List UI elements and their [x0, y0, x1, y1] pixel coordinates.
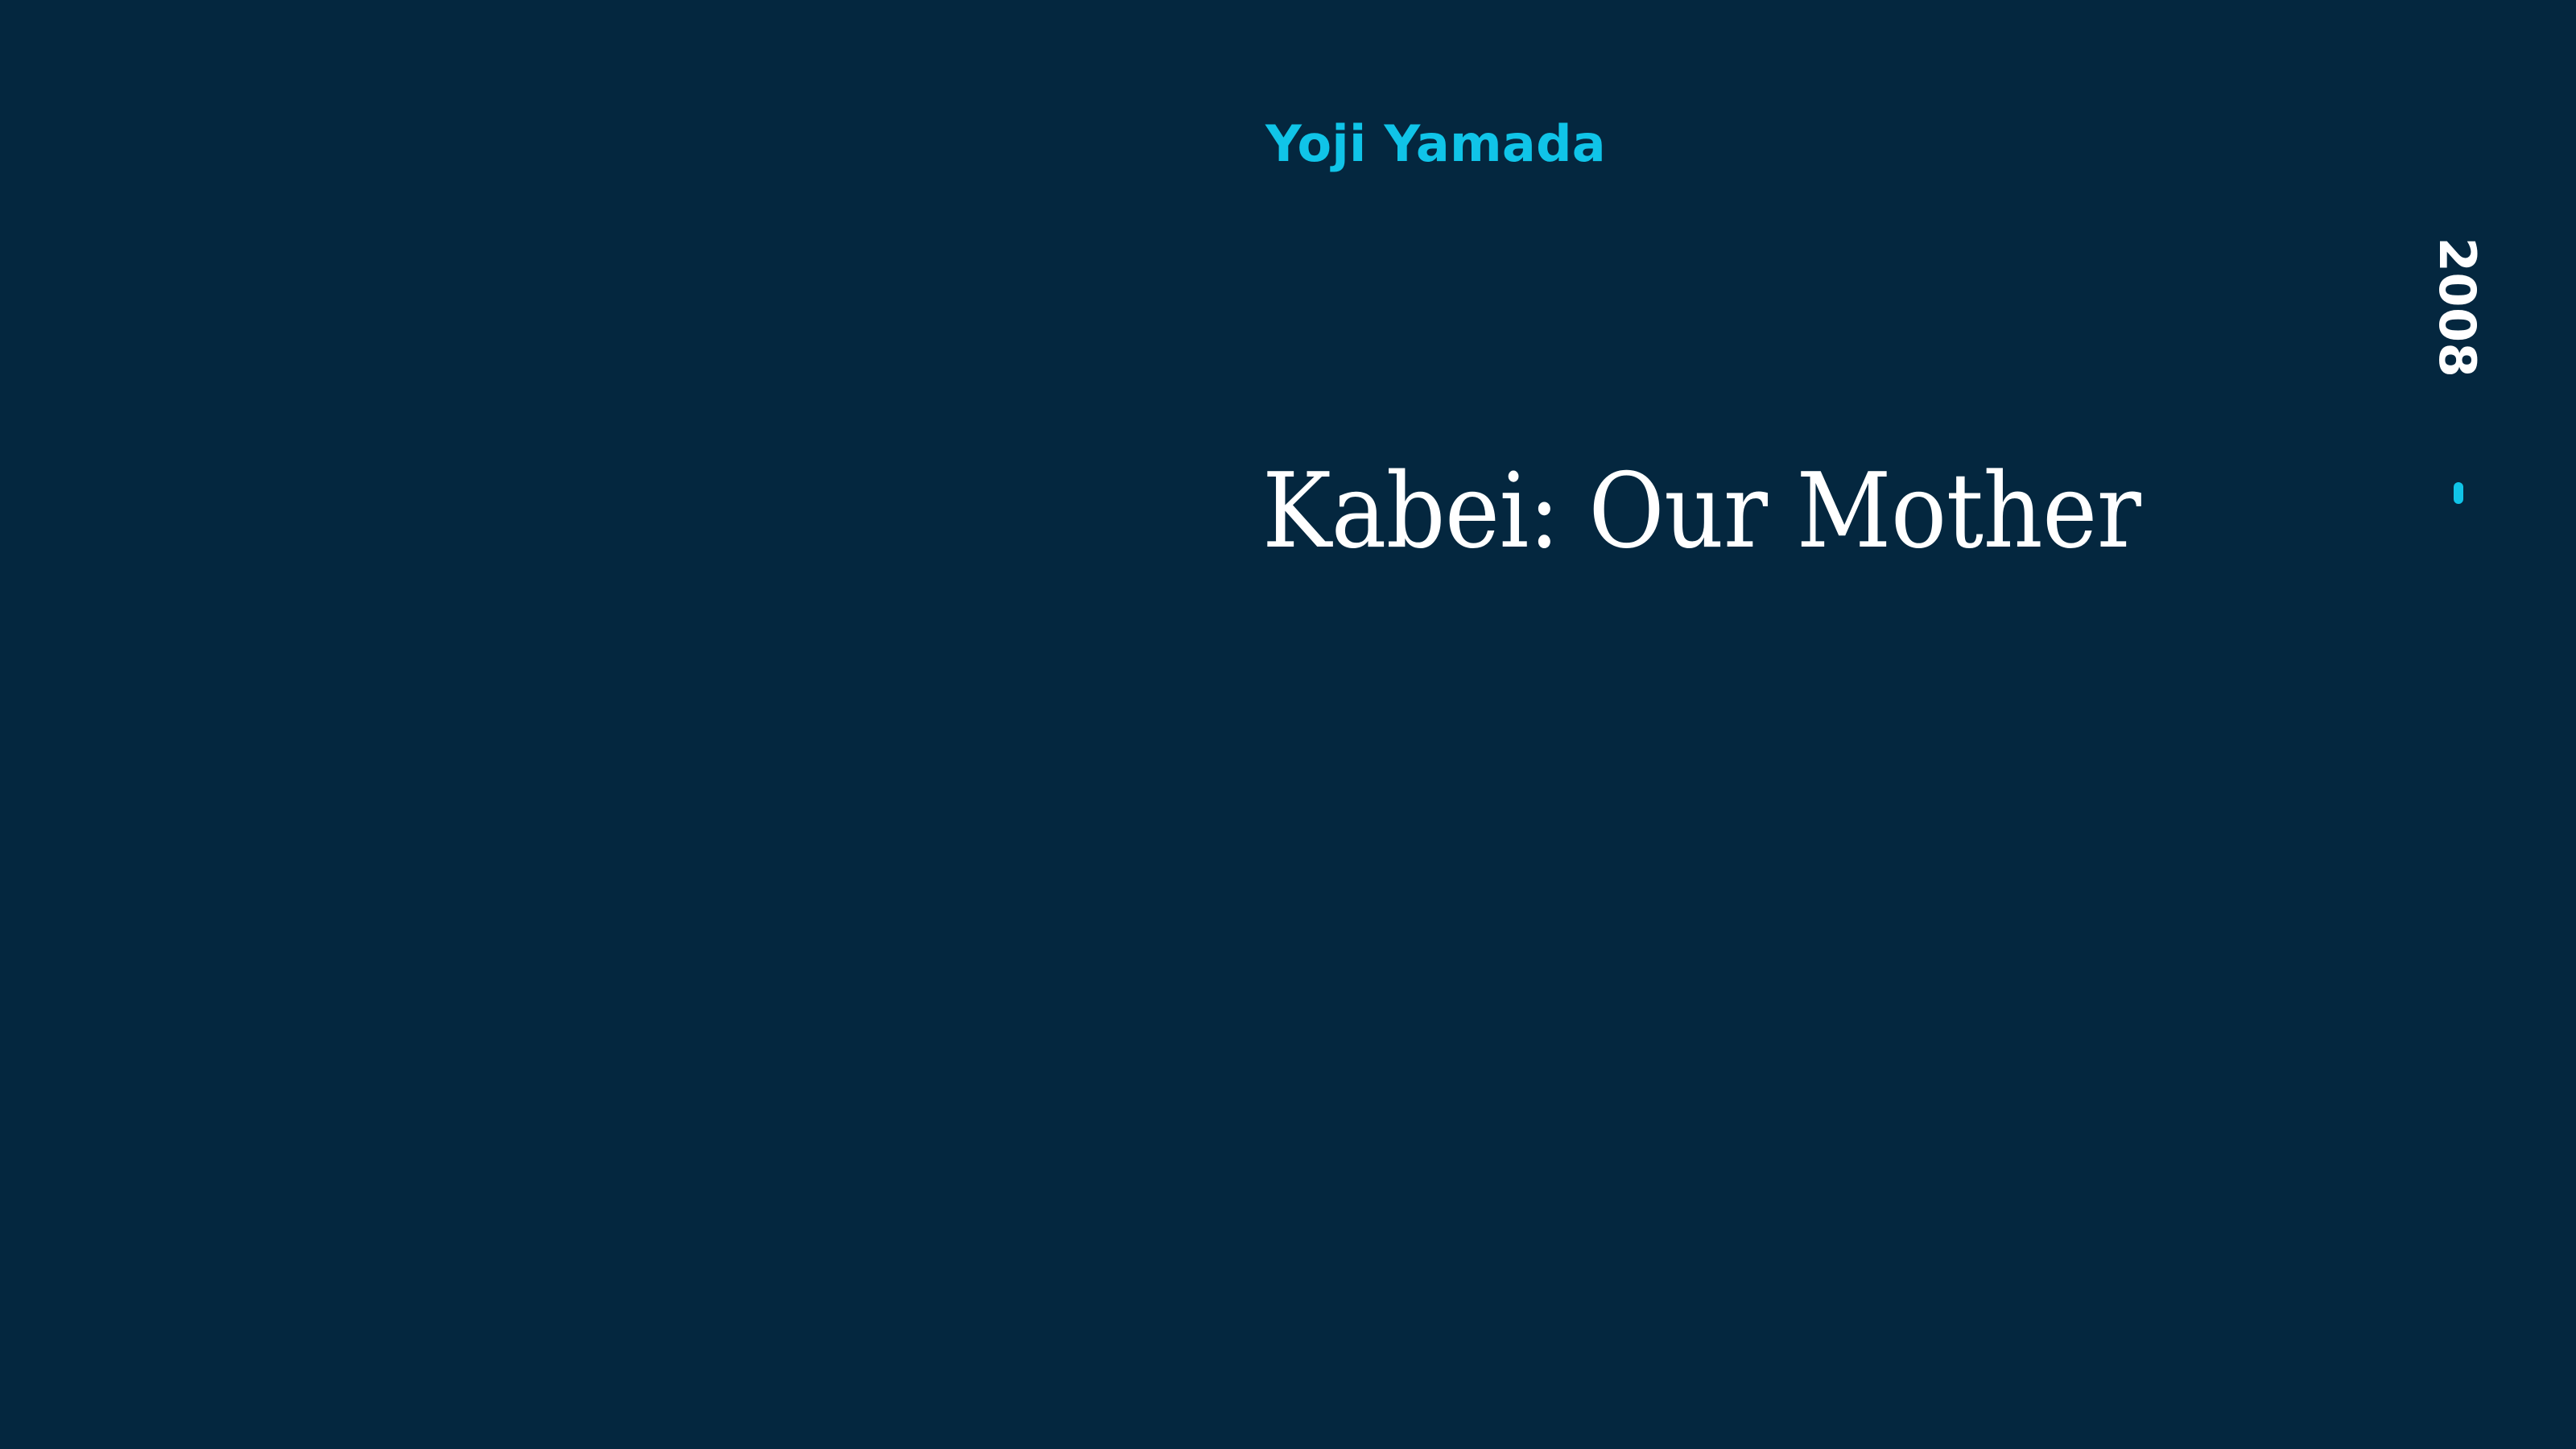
- poster-canvas: Yoji Yamada Kabei: Our Mother 2008: [0, 0, 2576, 1449]
- release-year: 2008: [2432, 237, 2482, 378]
- film-title: Kabei: Our Mother: [1262, 460, 2140, 563]
- year-rail: 2008: [2425, 0, 2489, 1449]
- director-name: Yoji Yamada: [1265, 119, 1606, 169]
- accent-tick-icon: [2454, 482, 2463, 504]
